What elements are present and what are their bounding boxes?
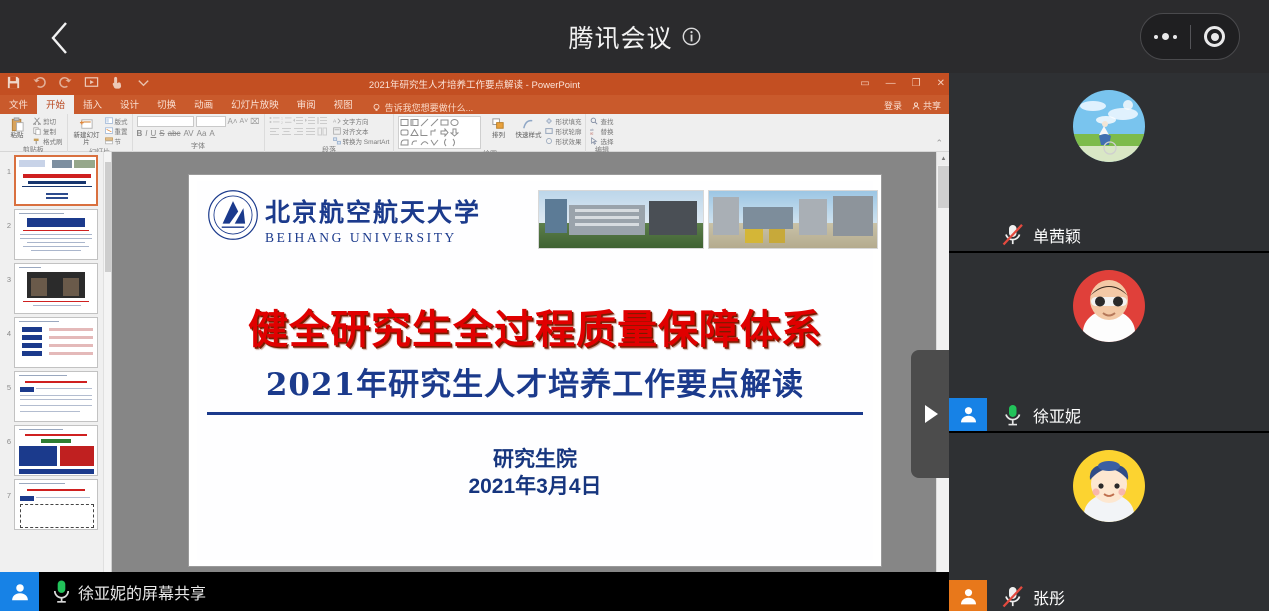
ribbon-group-clipboard: 粘贴 剪切 复制 格式刷 [0,114,68,152]
avatar [1073,450,1145,522]
tell-me-box[interactable]: 告诉我您想要做什么... [362,101,474,114]
align-text-label: 对齐文本 [343,126,369,136]
mic-on-icon [51,579,72,604]
person-icon [9,581,31,603]
ribbon-group-paragraph: 12 A 文字方向 [265,114,395,152]
decrease-indent-button[interactable] [293,116,304,126]
quick-styles-label: 快速样式 [515,133,541,140]
text-direction-icon: A [333,117,341,125]
font-size-input[interactable] [196,116,226,127]
university-name-block: 北京航空航天大学 BEIHANG UNIVERSITY [265,193,481,246]
format-painter-icon [33,137,41,145]
account-area: 登录 共享 [884,99,941,112]
more-menu-button[interactable] [1141,33,1190,40]
person-icon [958,586,979,607]
ribbon-tab-home[interactable]: 开始 [37,95,74,114]
thumbnail-number: 2 [3,209,11,230]
thumbnail-item[interactable]: 4 [0,314,111,368]
reset-label: 重置 [115,126,128,136]
ppt-document-title: 2021年研究生人才培养工作要点解读 - PowerPoint [0,73,949,95]
slide-subtitle: 2021年研究生人才培养工作要点解读 [197,359,873,404]
slide-thumbnail-pane[interactable]: 1 2 [0,152,112,611]
copy-icon [33,127,41,135]
thumbnail-item[interactable]: 1 [0,152,111,206]
section-button[interactable]: 节 [105,136,128,145]
avatar [1073,270,1145,342]
ribbon-tab-view[interactable]: 视图 [325,95,362,114]
thumbnail-slide-2[interactable] [14,209,98,260]
participants-sidebar: 单茜颖 [949,73,1269,611]
ribbon-tab-review[interactable]: 审阅 [288,95,325,114]
shape-effects-button[interactable]: 形状效果 [545,136,581,145]
miniprogram-capsule [1140,13,1240,60]
bullets-button[interactable] [269,116,280,126]
ribbon-group-font: A˄ A˅ ⌧ B I U S abc AV Aa A [133,114,265,152]
font-color-button[interactable]: A [209,129,214,138]
arrange-icon [489,116,507,133]
ribbon-tab-file[interactable]: 文件 [0,95,37,114]
svg-text:A: A [333,118,337,124]
select-button[interactable]: 选择 [590,136,613,145]
ribbon-group-slides: 新建幻灯片 版式 重置 节 [68,114,133,152]
mic-muted-icon [1002,224,1026,246]
play-triangle-icon [925,405,938,423]
ppt-title-bar: 2021年研究生人才培养工作要点解读 - PowerPoint ▭ — ❐ ✕ [0,73,949,95]
window-buttons: ▭ — ❐ ✕ [860,73,945,95]
section-label: 节 [115,136,122,146]
restore-button[interactable]: ❐ [912,79,921,89]
ribbon-tab-animations[interactable]: 动画 [185,95,222,114]
thumbnail-slide-5[interactable] [14,371,98,422]
increase-font-size-button[interactable]: A˄ [228,117,238,126]
columns-button[interactable] [317,127,328,137]
info-circle-icon[interactable] [682,27,701,46]
ribbon-body: 粘贴 剪切 复制 格式刷 [0,114,949,152]
arrange-label: 排列 [492,133,505,140]
target-circle-icon [1204,26,1225,47]
wechat-header: 腾讯会议 [0,0,1269,73]
participant-name: 单茜颖 [1033,223,1081,247]
host-badge-blue [949,398,987,431]
reset-button[interactable]: 重置 [105,126,128,135]
thumbnail-item[interactable]: 5 [0,368,111,422]
shape-effects-label: 形状效果 [555,136,581,146]
line-spacing-button[interactable] [317,116,328,126]
align-text-icon [333,127,341,135]
share-person-badge [0,572,39,611]
slide-content: 北京航空航天大学 BEIHANG UNIVERSITY [197,181,873,560]
bold-button[interactable]: B [137,129,143,138]
scissors-icon [33,117,41,125]
ribbon-group-drawing: 排列 快速样式 形状填充 形状轮廓 [394,114,586,152]
expand-participants-button[interactable] [911,350,949,478]
minimize-button[interactable]: — [886,79,896,89]
scroll-up-button[interactable]: ▲ [937,152,949,165]
svg-text:2: 2 [281,121,283,125]
arrange-button[interactable]: 排列 [485,116,511,140]
copy-label: 复制 [43,126,56,136]
thumbnail-slide-3[interactable] [14,263,98,314]
select-label: 选择 [600,136,613,146]
layout-button[interactable]: 版式 [105,116,128,125]
participant-name: 徐亚妮 [1033,403,1081,427]
thumbnail-number: 6 [3,425,11,446]
thumbnail-number: 1 [3,155,11,176]
participant-name: 张彤 [1033,585,1065,609]
share-button[interactable]: 共享 [912,99,941,112]
campus-photo-1 [538,190,704,249]
participant-tile[interactable]: 徐亚妮 [949,253,1269,433]
share-label: 共享 [923,99,941,112]
slide-divider-rule [207,412,863,415]
change-case-button[interactable]: Aa [197,129,207,138]
convert-smartart-label: 转换为 SmartArt [343,136,390,146]
cursor-select-icon [590,137,598,145]
underline-button[interactable]: U [151,129,157,138]
cut-button[interactable]: 剪切 [33,116,63,125]
shape-outline-button[interactable]: 形状轮廓 [545,126,581,135]
cut-label: 剪切 [43,116,56,126]
slide-organization: 研究生院 [197,443,873,473]
shape-fill-button[interactable]: 形状填充 [545,116,581,125]
thumbnail-slide-1[interactable] [14,155,98,206]
thumbnail-slide-4[interactable] [14,317,98,368]
svg-text:1: 1 [281,117,283,121]
close-button[interactable]: ✕ [937,79,945,89]
lightbulb-icon [372,103,381,112]
shadow-button[interactable]: S [159,129,164,138]
text-direction-button[interactable]: A 文字方向 [333,116,390,125]
character-spacing-button[interactable]: AV [184,129,194,138]
app-root: 腾讯会议 [0,0,1269,611]
thumbnail-item[interactable]: 6 [0,422,111,476]
avatar [1073,90,1145,162]
thumbnail-number: 5 [3,371,11,392]
university-name-cn: 北京航空航天大学 [265,193,481,229]
close-miniprogram-button[interactable] [1191,26,1240,47]
shape-outline-icon [545,127,553,135]
quick-styles-icon [519,116,537,133]
tell-me-text: 告诉我您想要做什么... [385,101,474,114]
align-left-button[interactable] [269,127,280,137]
new-slide-button[interactable]: 新建幻灯片 [72,116,102,147]
layout-label: 版式 [115,116,128,126]
clear-formatting-button[interactable]: ⌧ [250,117,259,126]
page-title: 腾讯会议 [568,19,672,55]
slide-date: 2021年3月4日 [197,470,873,500]
thumbnail-item[interactable]: 3 [0,260,111,314]
person-icon [958,404,979,425]
more-dots-icon [1154,33,1177,40]
numbering-button[interactable]: 12 [281,116,292,126]
thumbnail-slide-6[interactable] [14,425,98,476]
collapse-ribbon-button[interactable]: ⌃ [935,138,949,151]
header-title-wrap: 腾讯会议 [0,0,1269,73]
italic-button[interactable]: I [145,129,147,138]
copy-button[interactable]: 复制 [33,126,63,135]
canvas-scrollbar-thumb[interactable] [938,166,949,208]
replace-button[interactable]: abac 替换 [590,126,613,135]
shape-effects-icon [545,137,553,145]
group-name-font: 字体 [137,141,260,152]
find-label: 查找 [600,116,613,126]
thumbnail-slide-7[interactable] [14,479,98,530]
thumbnail-item[interactable]: 7 [0,476,111,530]
ribbon-tab-row: 文件 开始 插入 设计 切换 动画 幻灯片放映 审阅 视图 告诉我您想要做什么.… [0,95,949,114]
reset-icon [105,127,113,135]
smartart-icon [333,137,341,145]
ribbon-tab-insert[interactable]: 插入 [74,95,111,114]
current-slide[interactable]: 北京航空航天大学 BEIHANG UNIVERSITY [189,175,881,566]
beihang-logo-icon [207,189,259,241]
svg-text:ac: ac [590,131,594,134]
shape-outline-label: 形状轮廓 [555,126,581,136]
participant-tile[interactable]: 张彤 [949,433,1269,611]
shared-screen[interactable]: 2021年研究生人才培养工作要点解读 - PowerPoint ▭ — ❐ ✕ … [0,73,949,611]
mic-status[interactable] [1001,224,1027,246]
increase-indent-button[interactable] [305,116,316,126]
thumbnail-number: 4 [3,317,11,338]
new-slide-label: 新建幻灯片 [72,133,102,147]
mic-on-icon [1002,404,1026,426]
thumbnail-scrollbar[interactable] [103,152,111,611]
ribbon-tab-design[interactable]: 设计 [111,95,148,114]
ribbon-group-editing: 查找 abac 替换 选择 编辑 [586,114,617,152]
university-name-en: BEIHANG UNIVERSITY [265,230,481,246]
mic-muted-icon [1002,586,1026,608]
quick-styles-button[interactable]: 快速样式 [515,116,541,140]
align-text-button[interactable]: 对齐文本 [333,126,390,135]
shapes-gallery[interactable] [398,116,481,149]
ribbon-tab-transitions[interactable]: 切换 [148,95,185,114]
format-painter-button[interactable]: 格式刷 [33,136,63,145]
replace-icon: abac [590,127,598,135]
screen-share-bar: 徐亚妮的屏幕共享 [0,572,949,611]
participant-footer: 单茜颖 [949,218,1269,251]
participant-footer: 徐亚妮 [949,398,1269,431]
decrease-font-size-button[interactable]: A˅ [240,118,249,125]
slide-canvas-area[interactable]: 北京航空航天大学 BEIHANG UNIVERSITY [112,152,949,611]
replace-label: 替换 [600,126,613,136]
convert-smartart-button[interactable]: 转换为 SmartArt [333,136,390,145]
paragraph-icon-grid: 12 [269,116,328,137]
thumbnail-item[interactable]: 2 [0,206,111,260]
paste-icon [8,116,26,133]
thumbnail-scrollbar-thumb[interactable] [105,162,111,272]
person-share-icon [912,102,920,110]
share-mic-icon-wrap [51,579,72,604]
host-badge-orange [949,580,987,611]
align-center-button[interactable] [281,127,292,137]
participant-footer: 张彤 [949,580,1269,611]
new-slide-icon [78,116,96,133]
justify-button[interactable] [305,127,316,137]
text-direction-label: 文字方向 [343,116,369,126]
search-icon [590,117,598,125]
format-painter-label: 格式刷 [43,136,63,146]
thumbnail-number: 7 [3,479,11,500]
ribbon-display-options-button[interactable]: ▭ [860,79,869,89]
ribbon-tab-slideshow[interactable]: 幻灯片放映 [222,95,288,114]
align-right-button[interactable] [293,127,304,137]
host-badge-none [949,218,987,251]
mic-status[interactable] [1001,404,1027,426]
share-status-text: 徐亚妮的屏幕共享 [78,580,206,604]
shape-fill-label: 形状填充 [555,116,581,126]
section-icon [105,137,113,145]
paste-button[interactable]: 粘贴 [4,116,30,140]
paste-label: 粘贴 [11,133,24,140]
signin-label[interactable]: 登录 [884,99,902,112]
shape-fill-icon [545,117,553,125]
mic-status[interactable] [1001,586,1027,608]
slide-title: 健全研究生全过程质量保障体系 [197,297,873,355]
campus-photo-2 [708,190,878,249]
strikethrough-button[interactable]: abc [168,129,181,138]
font-name-input[interactable] [137,116,194,127]
find-button[interactable]: 查找 [590,116,613,125]
participant-tile[interactable]: 单茜颖 [949,73,1269,253]
thumbnail-number: 3 [3,263,11,284]
layout-icon [105,117,113,125]
